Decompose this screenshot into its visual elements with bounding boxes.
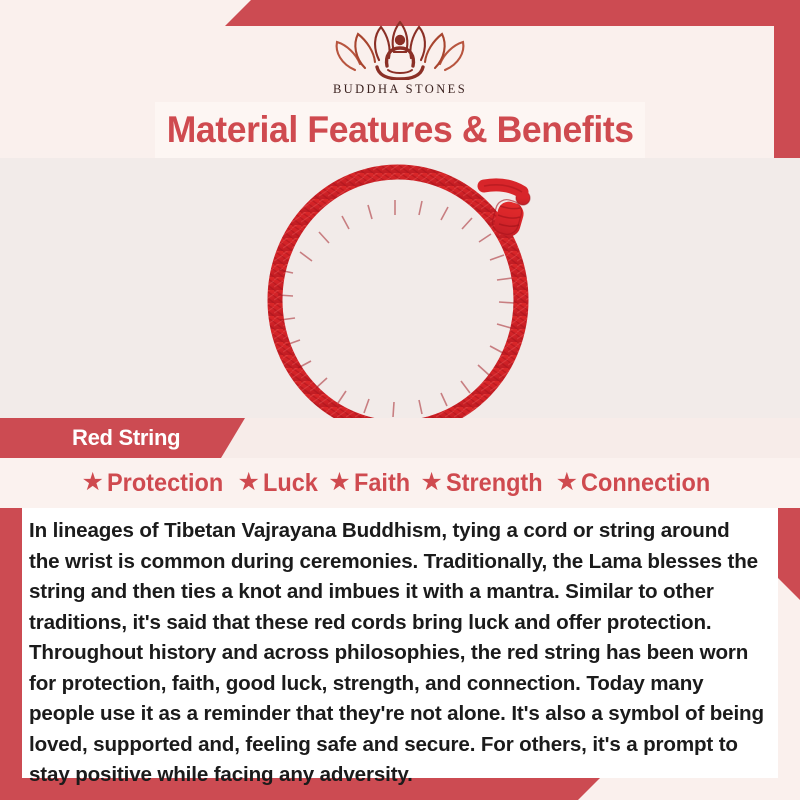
- product-tag-label: Red String: [72, 425, 180, 451]
- feature-label: Strength: [446, 469, 543, 498]
- infographic-page: BUDDHA STONES Material Features & Benefi…: [0, 0, 800, 800]
- product-image-red-string-bracelet: [238, 160, 583, 438]
- brand-name: BUDDHA STONES: [333, 82, 467, 97]
- star-icon: ★: [328, 470, 350, 495]
- feature-list: ★ Protection ★ Luck ★ Faith ★ Strength ★…: [0, 458, 800, 508]
- description-text: In lineages of Tibetan Vajrayana Buddhis…: [29, 516, 764, 791]
- description-panel: In lineages of Tibetan Vajrayana Buddhis…: [22, 508, 778, 778]
- feature-item-connection: ★ Connection: [556, 469, 719, 498]
- feature-item-faith: ★ Faith: [328, 469, 413, 498]
- page-title-banner: Material Features & Benefits: [155, 102, 645, 158]
- star-icon: ★: [238, 470, 260, 495]
- page-title: Material Features & Benefits: [167, 109, 634, 151]
- feature-label: Luck: [263, 469, 318, 498]
- star-icon: ★: [556, 470, 578, 495]
- feature-item-protection: ★ Protection: [81, 469, 230, 498]
- star-icon: ★: [81, 470, 103, 495]
- lotus-meditation-figure-icon: [325, 14, 475, 80]
- product-tag: Red String: [0, 418, 245, 458]
- brand-logo: BUDDHA STONES: [0, 14, 800, 104]
- feature-label: Faith: [354, 469, 410, 498]
- feature-item-luck: ★ Luck: [238, 469, 322, 498]
- feature-item-strength: ★ Strength: [420, 469, 548, 498]
- feature-label: Connection: [581, 469, 710, 498]
- star-icon: ★: [420, 470, 442, 495]
- feature-label: Protection: [107, 469, 223, 498]
